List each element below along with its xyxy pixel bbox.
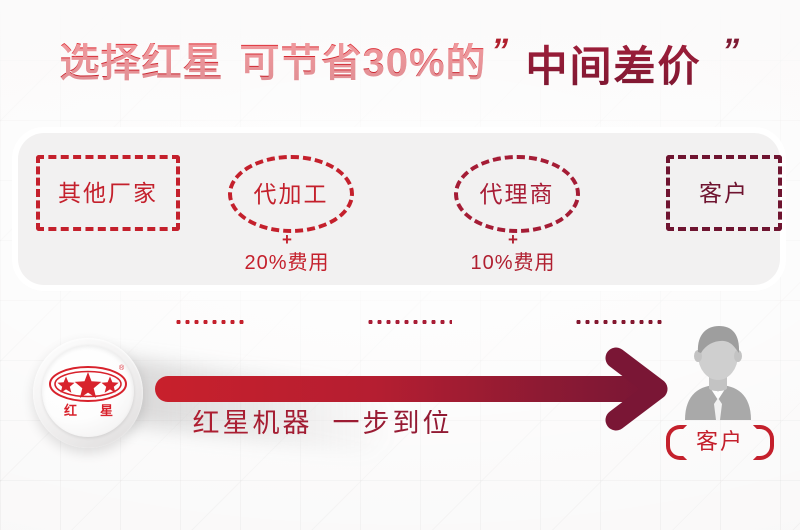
flow-node-label-4: 客户 — [699, 182, 749, 205]
headline-part-1: 选择红星 — [59, 43, 223, 83]
fee-group-1: + 20%费用 — [228, 231, 346, 273]
connector-dots-1 — [174, 320, 244, 324]
quote-close-icon: ” — [717, 32, 740, 71]
fee-plus-2: + — [454, 231, 572, 248]
quote-open-icon: ” — [486, 32, 509, 71]
headline-emphasis: 中间差价 — [526, 33, 702, 94]
bracket-left-icon — [666, 425, 687, 460]
flow-node-label-2: 代加工 — [254, 183, 329, 206]
bottom-slogan: 红星机器一步到位 — [0, 410, 645, 437]
direct-path-arrow-bar — [155, 376, 645, 402]
connector-dots-2 — [366, 320, 452, 324]
fee-plus-1: + — [228, 231, 346, 248]
flow-node-agent: 代理商 — [454, 155, 580, 233]
flow-node-contract-manufacturing: 代加工 — [228, 155, 354, 233]
slogan-brand: 红星机器 — [193, 408, 313, 438]
flow-diagram: 其他厂家 代加工 + 20%费用 代理商 + 10%费用 客户 — [18, 133, 780, 285]
svg-text:®: ® — [119, 364, 125, 372]
flow-node-label-3: 代理商 — [480, 183, 555, 206]
businessman-silhouette-icon — [672, 322, 764, 420]
flow-node-label-1: 其他厂家 — [58, 182, 158, 205]
flow-node-customer: 客户 — [666, 155, 782, 231]
headline: 选择红星 可节省30%的 ” 中间差价 ” — [0, 28, 800, 98]
customer-avatar-icon — [672, 322, 764, 420]
headline-part-2: 可节省30%的 — [239, 43, 486, 83]
customer-tag: 客户 — [655, 425, 785, 459]
slogan-action: 一步到位 — [333, 408, 453, 438]
middleman-flow-panel: 其他厂家 代加工 + 20%费用 代理商 + 10%费用 客户 — [18, 133, 780, 285]
fee-amount-2: 10%费用 — [454, 253, 572, 273]
connector-dots-3 — [574, 320, 664, 324]
poster-canvas: 选择红星 可节省30%的 ” 中间差价 ” 其他厂家 代加工 + 20%费用 — [0, 0, 800, 530]
flow-node-other-factory: 其他厂家 — [36, 155, 180, 231]
fee-amount-1: 20%费用 — [228, 253, 346, 273]
bracket-right-icon — [753, 425, 774, 460]
customer-tag-label: 客户 — [696, 431, 744, 453]
fee-group-2: + 10%费用 — [454, 231, 572, 273]
